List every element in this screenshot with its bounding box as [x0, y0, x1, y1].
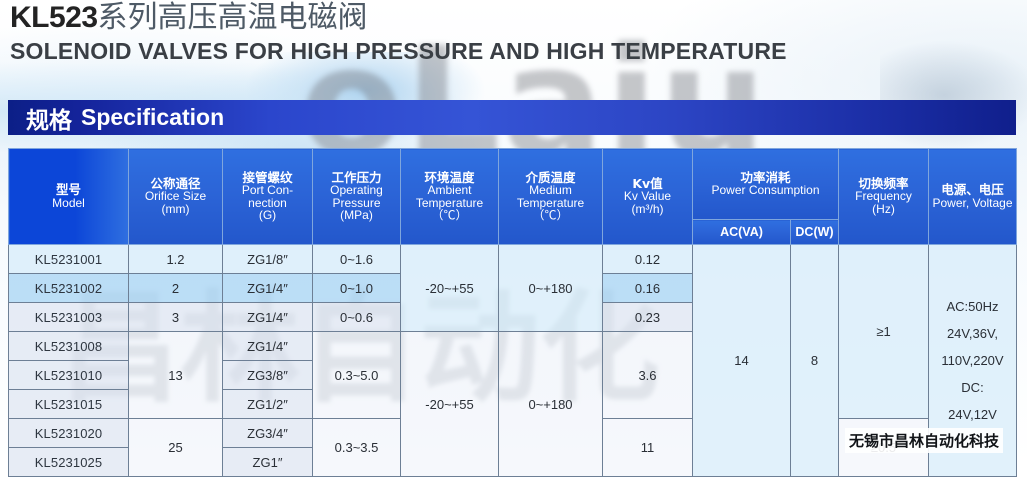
cell-kv: 0.23 — [603, 303, 693, 332]
cell-port: ZG1/8″ — [223, 245, 313, 274]
cell-frequency-top: ≥1 — [839, 245, 929, 419]
cell-pressure: 0.3~3.5 — [313, 419, 401, 477]
title-model: KL523 — [10, 1, 98, 34]
header-frequency: 切换频率 Frequency (Hz) — [839, 149, 929, 245]
cell-pressure: 0~0.6 — [313, 303, 401, 332]
cell-kv: 0.16 — [603, 274, 693, 303]
company-stamp: 无锡市昌林自动化科技 — [845, 428, 1003, 453]
title-chinese: KL523系列高压高温电磁阀 — [10, 0, 787, 36]
cell-dc-value: 8 — [791, 245, 839, 477]
cell-model: KL5231015 — [9, 390, 129, 419]
cell-pressure: 0~1.6 — [313, 245, 401, 274]
cell-model: KL5231008 — [9, 332, 129, 361]
cell-model: KL5231010 — [9, 361, 129, 390]
cell-kv: 11 — [603, 419, 693, 477]
cell-port: ZG1/4″ — [223, 332, 313, 361]
cell-ambient-temp-top: -20~+55 — [401, 245, 499, 332]
cell-orifice: 13 — [129, 332, 223, 419]
cell-orifice: 2 — [129, 274, 223, 303]
cell-model: KL5231003 — [9, 303, 129, 332]
table-header-row-main: 型号 Model 公称通径 Orifice Size (mm) 接管螺纹 Por… — [9, 149, 1017, 220]
cell-port: ZG1/4″ — [223, 274, 313, 303]
cell-pressure: 0~1.0 — [313, 274, 401, 303]
voltage-line-ac-hz: AC:50Hz — [929, 293, 1016, 320]
cell-orifice: 1.2 — [129, 245, 223, 274]
header-port-connection: 接管螺纹 Port Con- nection (G) — [223, 149, 313, 245]
cell-medium-temp-top: 0~+180 — [499, 245, 603, 332]
cell-kv: 3.6 — [603, 332, 693, 419]
specification-banner: 规格 Specification — [8, 100, 1016, 135]
cell-ambient-temp-bottom: -20~+55 — [401, 332, 499, 477]
cell-port: ZG3/4″ — [223, 419, 313, 448]
cell-port: ZG1/2″ — [223, 390, 313, 419]
header-kv-value: Kv值 Kv Value (m³/h) — [603, 149, 693, 245]
voltage-line-ac-1: 24V,36V, — [929, 320, 1016, 347]
header-ac-va: AC(VA) — [693, 220, 791, 245]
cell-ac-value: 14 — [693, 245, 791, 477]
voltage-line-ac-2: 110V,220V — [929, 347, 1016, 374]
cell-port: ZG1/4″ — [223, 303, 313, 332]
header-medium-temperature: 介质温度 Medium Temperature （℃） — [499, 149, 603, 245]
title-english: SOLENOID VALVES FOR HIGH PRESSURE AND HI… — [10, 36, 787, 66]
voltage-line-dc-1: 24V,12V — [929, 401, 1016, 428]
header-power-voltage: 电源、电压 Power, Voltage — [929, 149, 1017, 245]
header-orifice-size: 公称通径 Orifice Size (mm) — [129, 149, 223, 245]
voltage-line-dc-label: DC: — [929, 374, 1016, 401]
cell-model: KL5231001 — [9, 245, 129, 274]
cell-kv: 0.12 — [603, 245, 693, 274]
banner-label-chinese: 规格 — [26, 101, 72, 135]
cell-orifice: 3 — [129, 303, 223, 332]
header-operating-pressure: 工作压力 Operating Pressure (MPa) — [313, 149, 401, 245]
cell-model: KL5231002 — [9, 274, 129, 303]
cell-model: KL5231020 — [9, 419, 129, 448]
cell-port: ZG3/8″ — [223, 361, 313, 390]
header-power-consumption: 功率消耗 Power Consumption — [693, 149, 839, 220]
header-dc-w: DC(W) — [791, 220, 839, 245]
cell-orifice: 25 — [129, 419, 223, 477]
cell-pressure: 0.3~5.0 — [313, 332, 401, 419]
banner-label-english: Specification — [81, 104, 224, 131]
table-row: KL5231001 1.2 ZG1/8″ 0~1.6 -20~+55 0~+18… — [9, 245, 1017, 274]
title-chinese-rest: 系列高压高温电磁阀 — [98, 0, 368, 35]
cell-port: ZG1″ — [223, 448, 313, 477]
header-model: 型号 Model — [9, 149, 129, 245]
page-title: KL523系列高压高温电磁阀 SOLENOID VALVES FOR HIGH … — [10, 0, 787, 66]
header-ambient-temperature: 环境温度 Ambient Temperature （℃） — [401, 149, 499, 245]
cell-medium-temp-bottom: 0~+180 — [499, 332, 603, 477]
cell-model: KL5231025 — [9, 448, 129, 477]
